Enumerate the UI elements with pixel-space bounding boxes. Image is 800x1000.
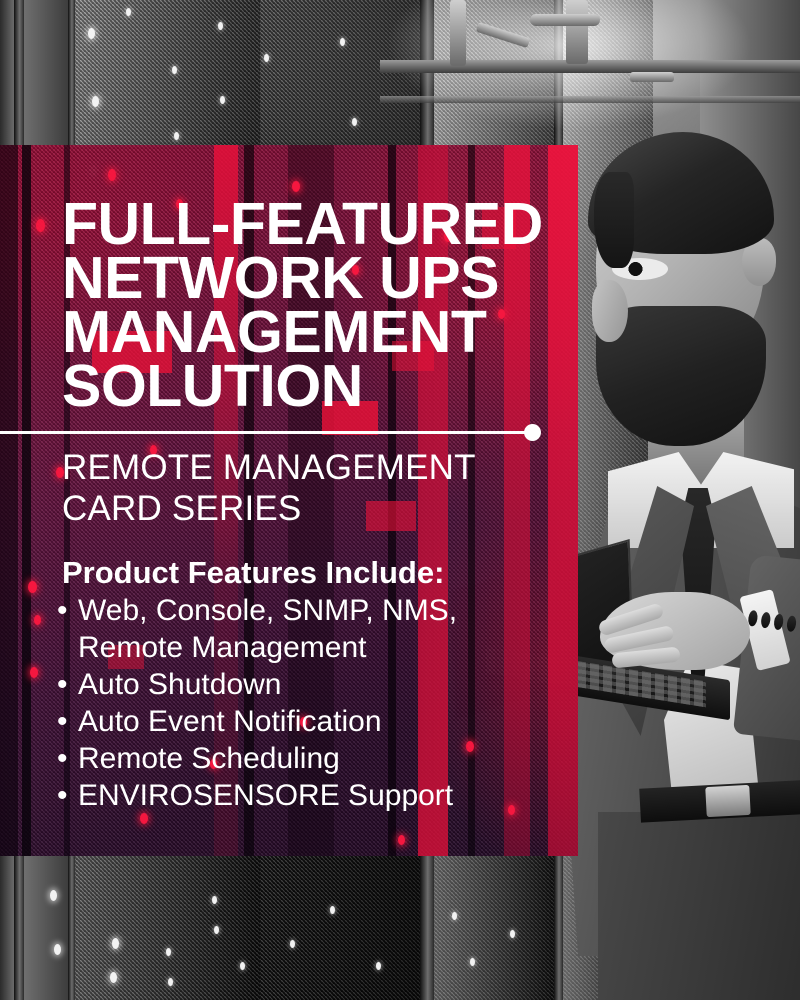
cable-tray: [380, 96, 800, 103]
ceiling-pipe: [530, 14, 600, 26]
trousers: [598, 812, 800, 1000]
rack-led: [240, 962, 245, 970]
rack-led: [264, 54, 269, 62]
rack-led: [126, 8, 131, 16]
cable-tray: [380, 60, 800, 73]
ceiling-structure: [380, 0, 800, 150]
rack-led: [218, 22, 223, 30]
rack-led: [168, 978, 173, 986]
nose: [592, 280, 628, 342]
rack-led: [452, 912, 457, 920]
rack-led: [212, 896, 217, 904]
rack-led: [88, 28, 95, 39]
feature-item: Auto Event Notification: [57, 703, 557, 740]
ceiling-pipe: [566, 0, 588, 64]
rack-led: [290, 940, 295, 948]
rack-led: [110, 972, 117, 983]
feature-item: Remote Scheduling: [57, 740, 557, 777]
rack-led: [92, 96, 99, 107]
rack-led: [166, 948, 171, 956]
rack-led: [470, 958, 475, 966]
divider-rule: [0, 431, 533, 434]
rack-led: [214, 926, 219, 934]
feature-item: Auto Shutdown: [57, 666, 557, 703]
headline-line-2: NETWORK UPS: [62, 251, 562, 305]
rack-led: [352, 118, 357, 126]
rack-led: [172, 66, 177, 74]
subheadline-line-1: REMOTE MANAGEMENT: [62, 447, 542, 488]
headline-line-3: MANAGEMENT: [62, 305, 562, 359]
rack-led: [112, 938, 119, 949]
subheadline: REMOTE MANAGEMENT CARD SERIES: [62, 447, 542, 529]
marketing-banner: FULL-FEATURED NETWORK UPS MANAGEMENT SOL…: [0, 0, 800, 1000]
subheadline-line-2: CARD SERIES: [62, 488, 542, 529]
features-list: Web, Console, SNMP, NMS, Remote Manageme…: [57, 592, 557, 814]
feature-item: ENVIROSENSORE Support: [57, 777, 557, 814]
ceiling-pipe: [450, 0, 466, 66]
rack-led: [174, 132, 179, 140]
rack-led: [330, 906, 335, 914]
ceiling-pipe: [630, 72, 674, 82]
divider-endpoint-dot: [524, 424, 541, 441]
belt-buckle: [705, 785, 751, 817]
headline: FULL-FEATURED NETWORK UPS MANAGEMENT SOL…: [62, 197, 562, 413]
rack-led: [510, 930, 515, 938]
overlay-text-content: FULL-FEATURED NETWORK UPS MANAGEMENT SOL…: [0, 145, 578, 856]
rack-led: [220, 96, 225, 104]
feature-item: Web, Console, SNMP, NMS, Remote Manageme…: [57, 592, 557, 666]
rack-led: [54, 944, 61, 955]
headline-line-1: FULL-FEATURED: [62, 197, 562, 251]
rack-led: [376, 962, 381, 970]
rack-led: [340, 38, 345, 46]
features-title: Product Features Include:: [62, 556, 444, 590]
rack-led: [50, 890, 57, 901]
headline-line-4: SOLUTION: [62, 359, 562, 413]
